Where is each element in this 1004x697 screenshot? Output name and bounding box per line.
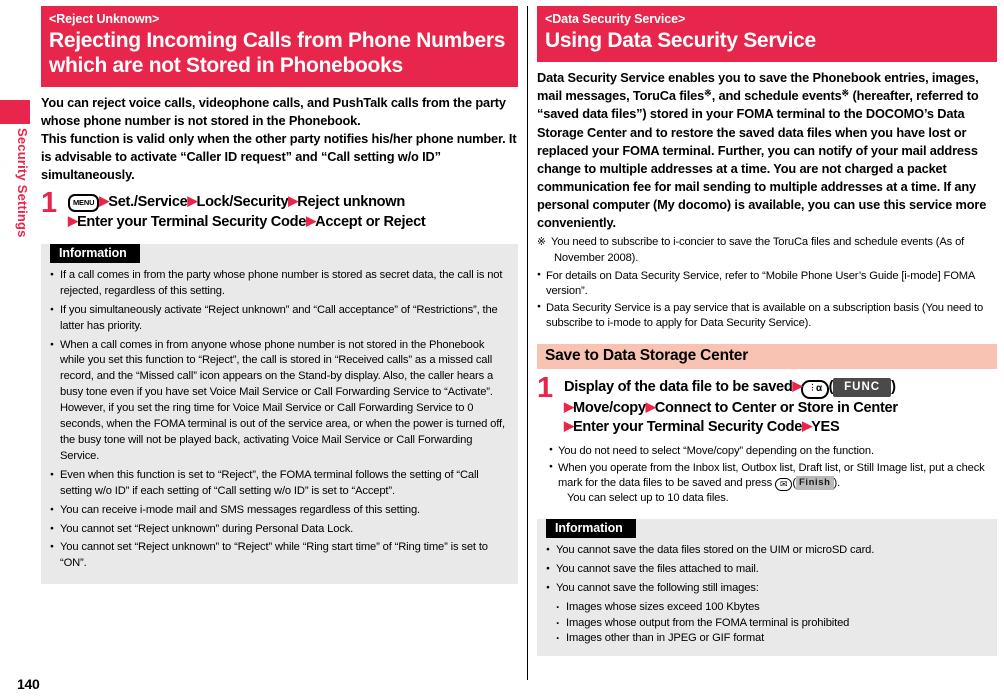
step-note-text: When you operate from the Inbox list, Ou… <box>558 462 985 489</box>
step-arrow-icon: ▶ <box>564 398 573 415</box>
right-step-notes: You do not need to select “Move/copy” de… <box>537 444 997 507</box>
step-note: When you operate from the Inbox list, Ou… <box>549 461 997 507</box>
info-list-item: You cannot set “Reject unknown” to “Reje… <box>50 540 509 572</box>
left-information-header: Information <box>50 244 140 263</box>
footnote-mark-icon: ※ <box>704 88 712 98</box>
info-list-item: Even when this function is set to “Rejec… <box>50 468 509 500</box>
right-information-list: You cannot save the data files stored on… <box>546 543 988 647</box>
right-section-heading: Save to Data Storage Center <box>537 344 997 369</box>
right-step-seq-3: Connect to Center or Store in Center <box>655 400 898 416</box>
left-title-band: <Reject Unknown> Rejecting Incoming Call… <box>41 6 518 87</box>
info-list-item: You cannot save the files attached to ma… <box>546 562 988 578</box>
right-step-seq-4: Enter your Terminal Security Code <box>573 419 802 435</box>
side-tab-label: Security Settings <box>0 128 30 238</box>
info-list-item: When a call comes in from anyone whose p… <box>50 338 509 465</box>
func-softkey-button[interactable]: FUNC <box>833 378 891 397</box>
left-page-title: Rejecting Incoming Calls from Phone Numb… <box>49 29 510 79</box>
column-divider <box>527 6 528 680</box>
manual-page: Security Settings <Reject Unknown> Rejec… <box>0 0 1004 697</box>
right-information-header: Information <box>546 519 636 538</box>
side-tab: Security Settings <box>0 0 33 697</box>
info-list-item: You cannot set “Reject unknown” during P… <box>50 522 509 538</box>
step-arrow-icon: ▶ <box>792 377 801 394</box>
menu-key-icon: MENU <box>68 194 99 212</box>
step-note-text-end: ). <box>834 477 841 489</box>
left-step-seq-5: Accept or Reject <box>315 214 425 230</box>
right-information-box: Information You cannot save the data fil… <box>537 519 997 656</box>
right-step-seq-1: Display of the data file to be saved <box>564 379 792 395</box>
right-section-kicker: <Data Security Service> <box>545 10 989 28</box>
right-column: <Data Security Service> Using Data Secur… <box>537 6 997 656</box>
info-list-item: You cannot save the data files stored on… <box>546 543 988 559</box>
step-arrow-icon: ▶ <box>99 192 108 209</box>
info-sub-item: Images other than in JPEG or GIF format <box>546 631 988 647</box>
step-arrow-icon: ▶ <box>68 212 77 229</box>
right-lead-part-2: , and schedule events <box>712 88 842 103</box>
right-step-number: 1 <box>537 374 553 403</box>
left-information-list: If a call comes in from the party whose … <box>50 268 509 572</box>
reference-item: For details on Data Security Service, re… <box>537 269 997 300</box>
left-lead-para-2: This function is valid only when the oth… <box>41 130 518 184</box>
right-step-seq-2: Move/copy <box>573 400 646 416</box>
right-lead-para: Data Security Service enables you to sav… <box>537 69 997 233</box>
info-sub-item: Images whose sizes exceed 100 Kbytes <box>546 600 988 616</box>
side-tab-bar <box>0 100 30 124</box>
step-arrow-icon: ▶ <box>646 398 655 415</box>
right-step-1: 1 Display of the data file to be saved▶⋮… <box>537 378 997 438</box>
step-arrow-icon: ▶ <box>802 417 811 434</box>
info-list-item: You cannot save the following still imag… <box>546 581 988 597</box>
step-arrow-icon: ▶ <box>288 192 297 209</box>
right-footnote: You need to subscribe to i-concier to sa… <box>537 235 997 266</box>
left-step-body: MENU▶Set./Service▶Lock/Security▶Reject u… <box>68 193 518 232</box>
info-list-item: If a call comes in from the party whose … <box>50 268 509 300</box>
right-footnote-cont: November 2008). <box>551 251 997 267</box>
footnote-mark-icon: ※ <box>842 88 850 98</box>
left-step-seq-3: Reject unknown <box>297 194 405 210</box>
step-note-cont: You can select up to 10 data files. <box>558 491 997 506</box>
mail-key-icon: ✉ <box>775 478 792 491</box>
right-lead-part-3: (hereafter, referred to “saved data file… <box>537 88 986 230</box>
left-step-number: 1 <box>41 189 57 218</box>
right-step-seq-5: YES <box>811 419 839 435</box>
right-page-title: Using Data Security Service <box>545 29 989 54</box>
left-step-seq-4: Enter your Terminal Security Code <box>77 214 306 230</box>
step-arrow-icon: ▶ <box>187 192 196 209</box>
left-lead-text: You can reject voice calls, videophone c… <box>41 94 518 185</box>
finish-softkey-button[interactable]: Finish <box>796 476 834 490</box>
right-footnote-text: You need to subscribe to i-concier to sa… <box>551 236 964 248</box>
reference-item: Data Security Service is a pay service t… <box>537 301 997 332</box>
left-information-box: Information If a call comes in from the … <box>41 244 518 584</box>
step-arrow-icon: ▶ <box>564 417 573 434</box>
step-arrow-icon: ▶ <box>306 212 315 229</box>
left-section-kicker: <Reject Unknown> <box>49 10 510 28</box>
step-note: You do not need to select “Move/copy” de… <box>549 444 997 459</box>
info-list-item: If you simultaneously activate “Reject u… <box>50 303 509 335</box>
info-sub-item: Images whose output from the FOMA termin… <box>546 616 988 632</box>
left-step-1: 1 MENU▶Set./Service▶Lock/Security▶Reject… <box>41 193 518 232</box>
i-alpha-key-icon: ⋮α <box>801 380 828 399</box>
info-list-item: You can receive i-mode mail and SMS mess… <box>50 503 509 519</box>
right-step-body: Display of the data file to be saved▶⋮α(… <box>564 378 997 438</box>
page-number: 140 <box>17 676 39 692</box>
right-title-band: <Data Security Service> Using Data Secur… <box>537 6 997 62</box>
right-lead-text: Data Security Service enables you to sav… <box>537 69 997 233</box>
left-step-seq-2: Lock/Security <box>196 194 288 210</box>
right-reference-list: For details on Data Security Service, re… <box>537 269 997 332</box>
left-column: <Reject Unknown> Rejecting Incoming Call… <box>41 6 518 584</box>
left-step-seq-1: Set./Service <box>108 194 187 210</box>
left-lead-para-1: You can reject voice calls, videophone c… <box>41 94 518 130</box>
